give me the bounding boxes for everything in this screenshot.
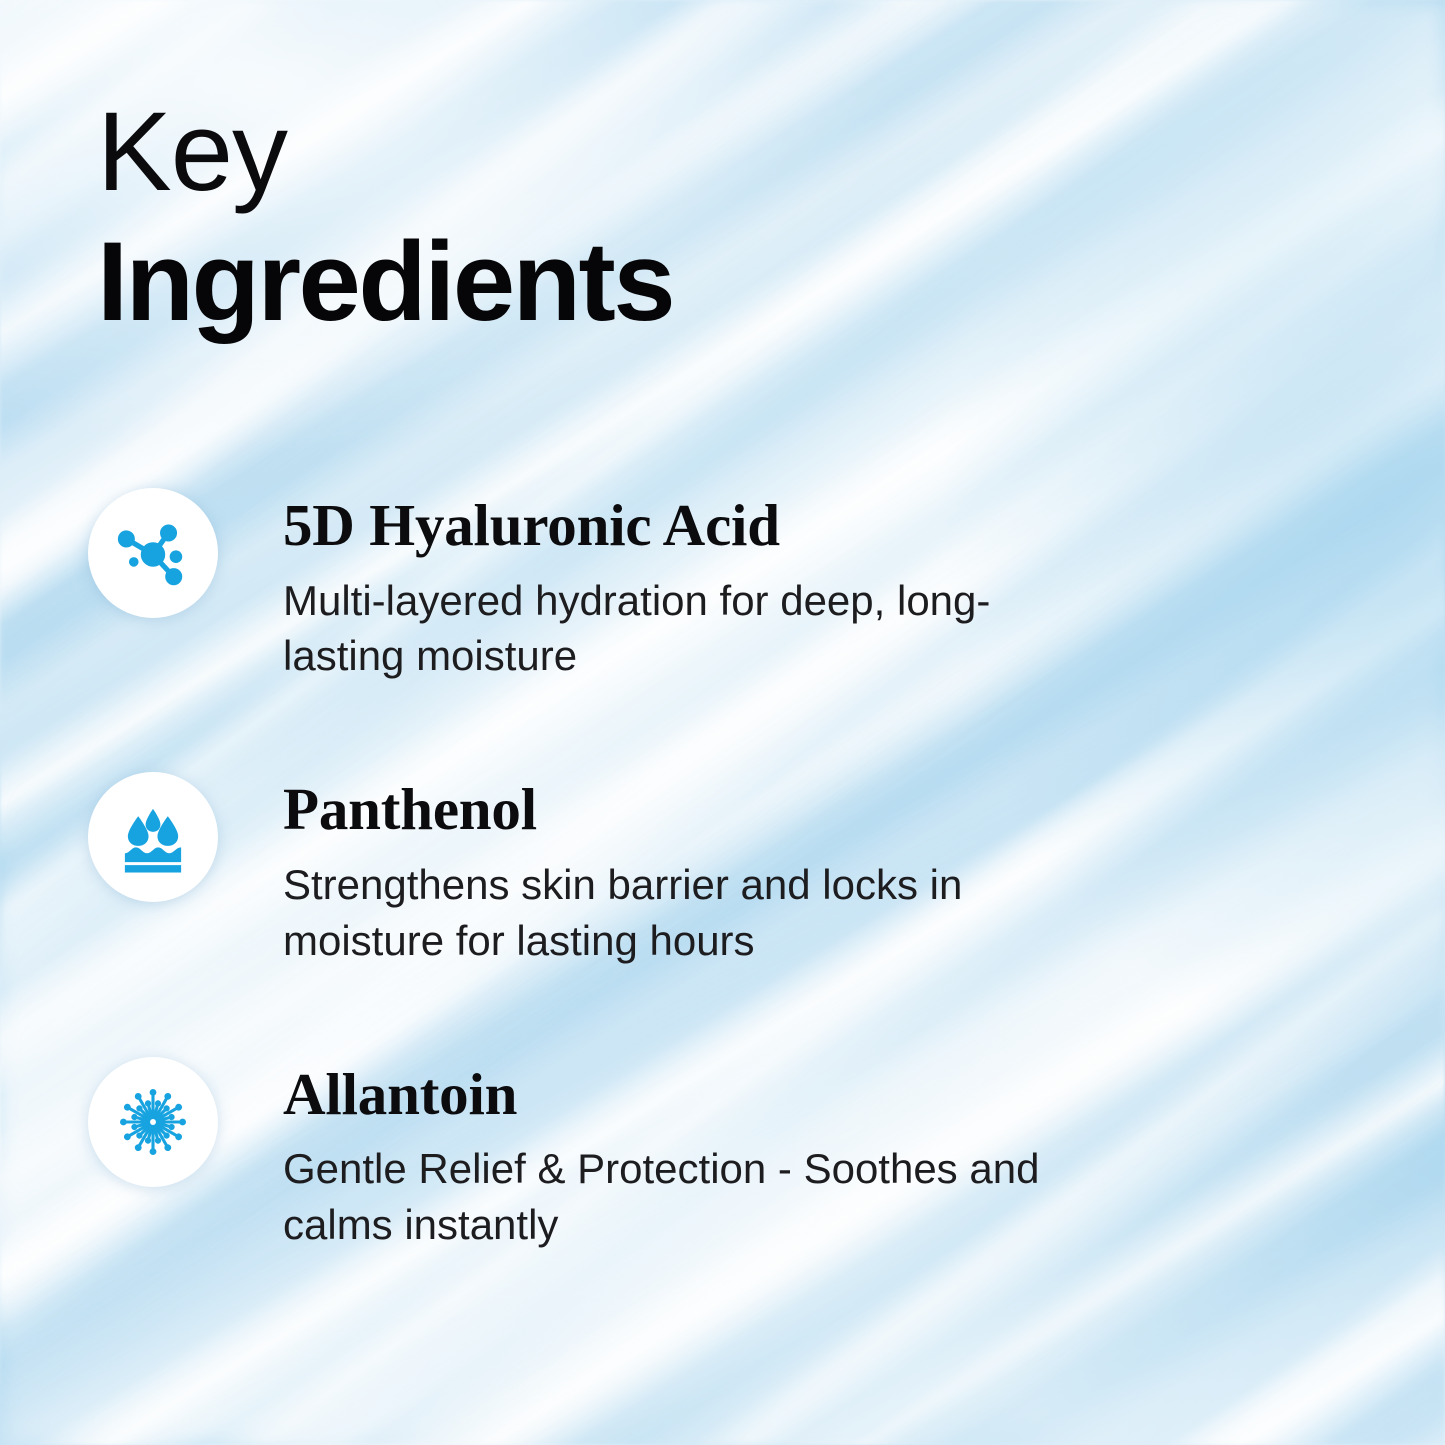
ingredient-text: Panthenol Strengthens skin barrier and l… [218, 772, 1063, 968]
ingredient-icon-badge [88, 772, 218, 902]
ingredient-text: Allantoin Gentle Relief & Protection - S… [218, 1057, 1063, 1253]
ingredient-title: Panthenol [283, 778, 1063, 841]
key-ingredients-poster: Key Ingredients [0, 0, 1445, 1445]
poster-content: Key Ingredients [0, 0, 1445, 1445]
ingredient-text: 5D Hyaluronic Acid Multi-layered hydrati… [218, 488, 1063, 684]
ingredient-title: Allantoin [283, 1063, 1063, 1126]
ingredient-description: Strengthens skin barrier and locks in mo… [283, 857, 1063, 969]
snowflake-burst-icon [116, 1085, 190, 1159]
list-item: Allantoin Gentle Relief & Protection - S… [88, 1057, 1138, 1253]
title-line-ingredients: Ingredients [97, 226, 673, 338]
list-item: 5D Hyaluronic Acid Multi-layered hydrati… [88, 488, 1138, 684]
list-item: Panthenol Strengthens skin barrier and l… [88, 772, 1138, 968]
water-droplets-icon [116, 800, 190, 874]
ingredient-description: Gentle Relief & Protection - Soothes and… [283, 1141, 1063, 1253]
ingredient-title: 5D Hyaluronic Acid [283, 494, 1063, 557]
ingredient-icon-badge [88, 488, 218, 618]
page-title: Key Ingredients [97, 96, 673, 338]
ingredient-icon-badge [88, 1057, 218, 1187]
ingredients-list: 5D Hyaluronic Acid Multi-layered hydrati… [88, 488, 1138, 1253]
molecule-icon [116, 516, 190, 590]
ingredient-description: Multi-layered hydration for deep, long-l… [283, 573, 1063, 685]
title-line-key: Key [97, 96, 673, 208]
